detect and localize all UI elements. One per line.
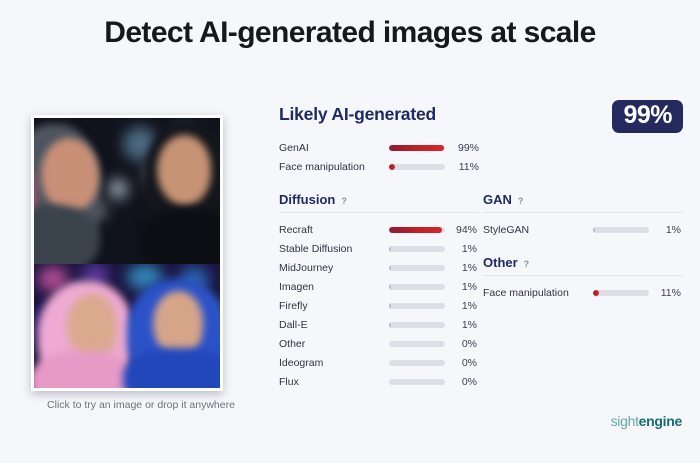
- detector-label: Imagen: [279, 281, 389, 293]
- detector-bar-track: [389, 341, 445, 347]
- detector-bar-track: [389, 265, 445, 271]
- detector-label: StyleGAN: [483, 224, 593, 236]
- detector-row: Face manipulation11%: [279, 157, 683, 176]
- detector-row: Recraft94%: [279, 220, 479, 239]
- page-title: Detect AI-generated images at scale: [0, 16, 700, 50]
- detector-bar-track: [389, 322, 445, 328]
- detector-value: 1%: [445, 281, 477, 293]
- sightengine-logo[interactable]: sightengine: [611, 413, 682, 429]
- detector-label: Stable Diffusion: [279, 243, 389, 255]
- detector-label: Ideogram: [279, 357, 389, 369]
- detector-bar-track: [389, 164, 445, 170]
- detector-value: 11%: [649, 287, 681, 299]
- detector-bar-track: [389, 360, 445, 366]
- column-diffusion: Diffusion ? Recraft94%Stable Diffusion1%…: [279, 192, 479, 391]
- section-header-gan: GAN ?: [483, 192, 683, 213]
- detector-value: 1%: [445, 243, 477, 255]
- image-preview-dropzone[interactable]: [31, 115, 223, 391]
- help-icon-diffusion[interactable]: ?: [341, 196, 347, 206]
- section-header-diffusion: Diffusion ?: [279, 192, 479, 213]
- detector-value: 1%: [445, 319, 477, 331]
- detector-row: GenAI99%: [279, 138, 683, 157]
- detector-label: Recraft: [279, 224, 389, 236]
- help-icon-other[interactable]: ?: [524, 259, 530, 269]
- detector-label: Other: [279, 338, 389, 350]
- detector-value: 1%: [445, 300, 477, 312]
- detector-value: 0%: [445, 357, 477, 369]
- detector-bar-track: [593, 227, 649, 233]
- rows-diffusion: Recraft94%Stable Diffusion1%MidJourney1%…: [279, 220, 479, 391]
- rows-other: Face manipulation11%: [483, 283, 683, 302]
- detector-row: StyleGAN1%: [483, 220, 683, 239]
- detector-row: Imagen1%: [279, 277, 479, 296]
- detector-row: Other0%: [279, 334, 479, 353]
- detector-bar-track: [593, 290, 649, 296]
- preview-photo-top: [34, 118, 220, 264]
- results-heading: Likely AI-generated: [279, 104, 683, 125]
- detector-bar-fill: [389, 164, 395, 170]
- detector-bar-track: [389, 284, 445, 290]
- main-score-rows: GenAI99%Face manipulation11%: [279, 138, 683, 176]
- detector-bar-fill: [389, 265, 391, 271]
- results-panel: Likely AI-generated GenAI99%Face manipul…: [279, 104, 683, 391]
- preview-caption: Click to try an image or drop it anywher…: [31, 399, 251, 411]
- detector-bar-track: [389, 145, 445, 151]
- section-title-other: Other: [483, 255, 518, 270]
- detector-row: Flux0%: [279, 372, 479, 391]
- section-spacer: [483, 239, 683, 255]
- help-icon-gan[interactable]: ?: [518, 196, 524, 206]
- detector-bar-fill: [389, 227, 442, 233]
- detector-bar-fill: [389, 145, 444, 151]
- detector-value: 94%: [445, 224, 477, 236]
- detector-label: Flux: [279, 376, 389, 388]
- detector-row: Ideogram0%: [279, 353, 479, 372]
- detector-value: 99%: [445, 142, 479, 154]
- preview-card[interactable]: [31, 115, 223, 391]
- detector-row: Stable Diffusion1%: [279, 239, 479, 258]
- detector-bar-fill: [593, 227, 595, 233]
- detector-bar-track: [389, 246, 445, 252]
- detector-label: GenAI: [279, 142, 389, 154]
- detector-bar-fill: [389, 322, 391, 328]
- detector-bar-fill: [593, 290, 599, 296]
- detector-value: 11%: [445, 161, 479, 173]
- section-title-gan: GAN: [483, 192, 512, 207]
- detector-label: Dall-E: [279, 319, 389, 331]
- detector-label: Face manipulation: [483, 287, 593, 299]
- logo-text-engine: engine: [639, 413, 682, 429]
- detector-bar-track: [389, 303, 445, 309]
- detector-value: 1%: [649, 224, 681, 236]
- logo-text-sight: sight: [611, 413, 639, 429]
- detector-row: Firefly1%: [279, 296, 479, 315]
- detector-value: 0%: [445, 376, 477, 388]
- column-gan-other: GAN ? StyleGAN1% Other ? Face manipulati…: [483, 192, 683, 391]
- detector-value: 1%: [445, 262, 477, 274]
- detector-bar-fill: [389, 284, 391, 290]
- detector-bar-track: [389, 379, 445, 385]
- detector-row: Dall-E1%: [279, 315, 479, 334]
- detector-bar-fill: [389, 246, 391, 252]
- detector-bar-track: [389, 227, 445, 233]
- detector-columns: Diffusion ? Recraft94%Stable Diffusion1%…: [279, 192, 683, 391]
- section-header-other: Other ?: [483, 255, 683, 276]
- rows-gan: StyleGAN1%: [483, 220, 683, 239]
- detector-label: Face manipulation: [279, 161, 389, 173]
- section-title-diffusion: Diffusion: [279, 192, 335, 207]
- preview-photo-bottom: [34, 264, 220, 388]
- detector-value: 0%: [445, 338, 477, 350]
- detector-bar-fill: [389, 303, 391, 309]
- detector-label: Firefly: [279, 300, 389, 312]
- detector-row: MidJourney1%: [279, 258, 479, 277]
- detector-label: MidJourney: [279, 262, 389, 274]
- detector-row: Face manipulation11%: [483, 283, 683, 302]
